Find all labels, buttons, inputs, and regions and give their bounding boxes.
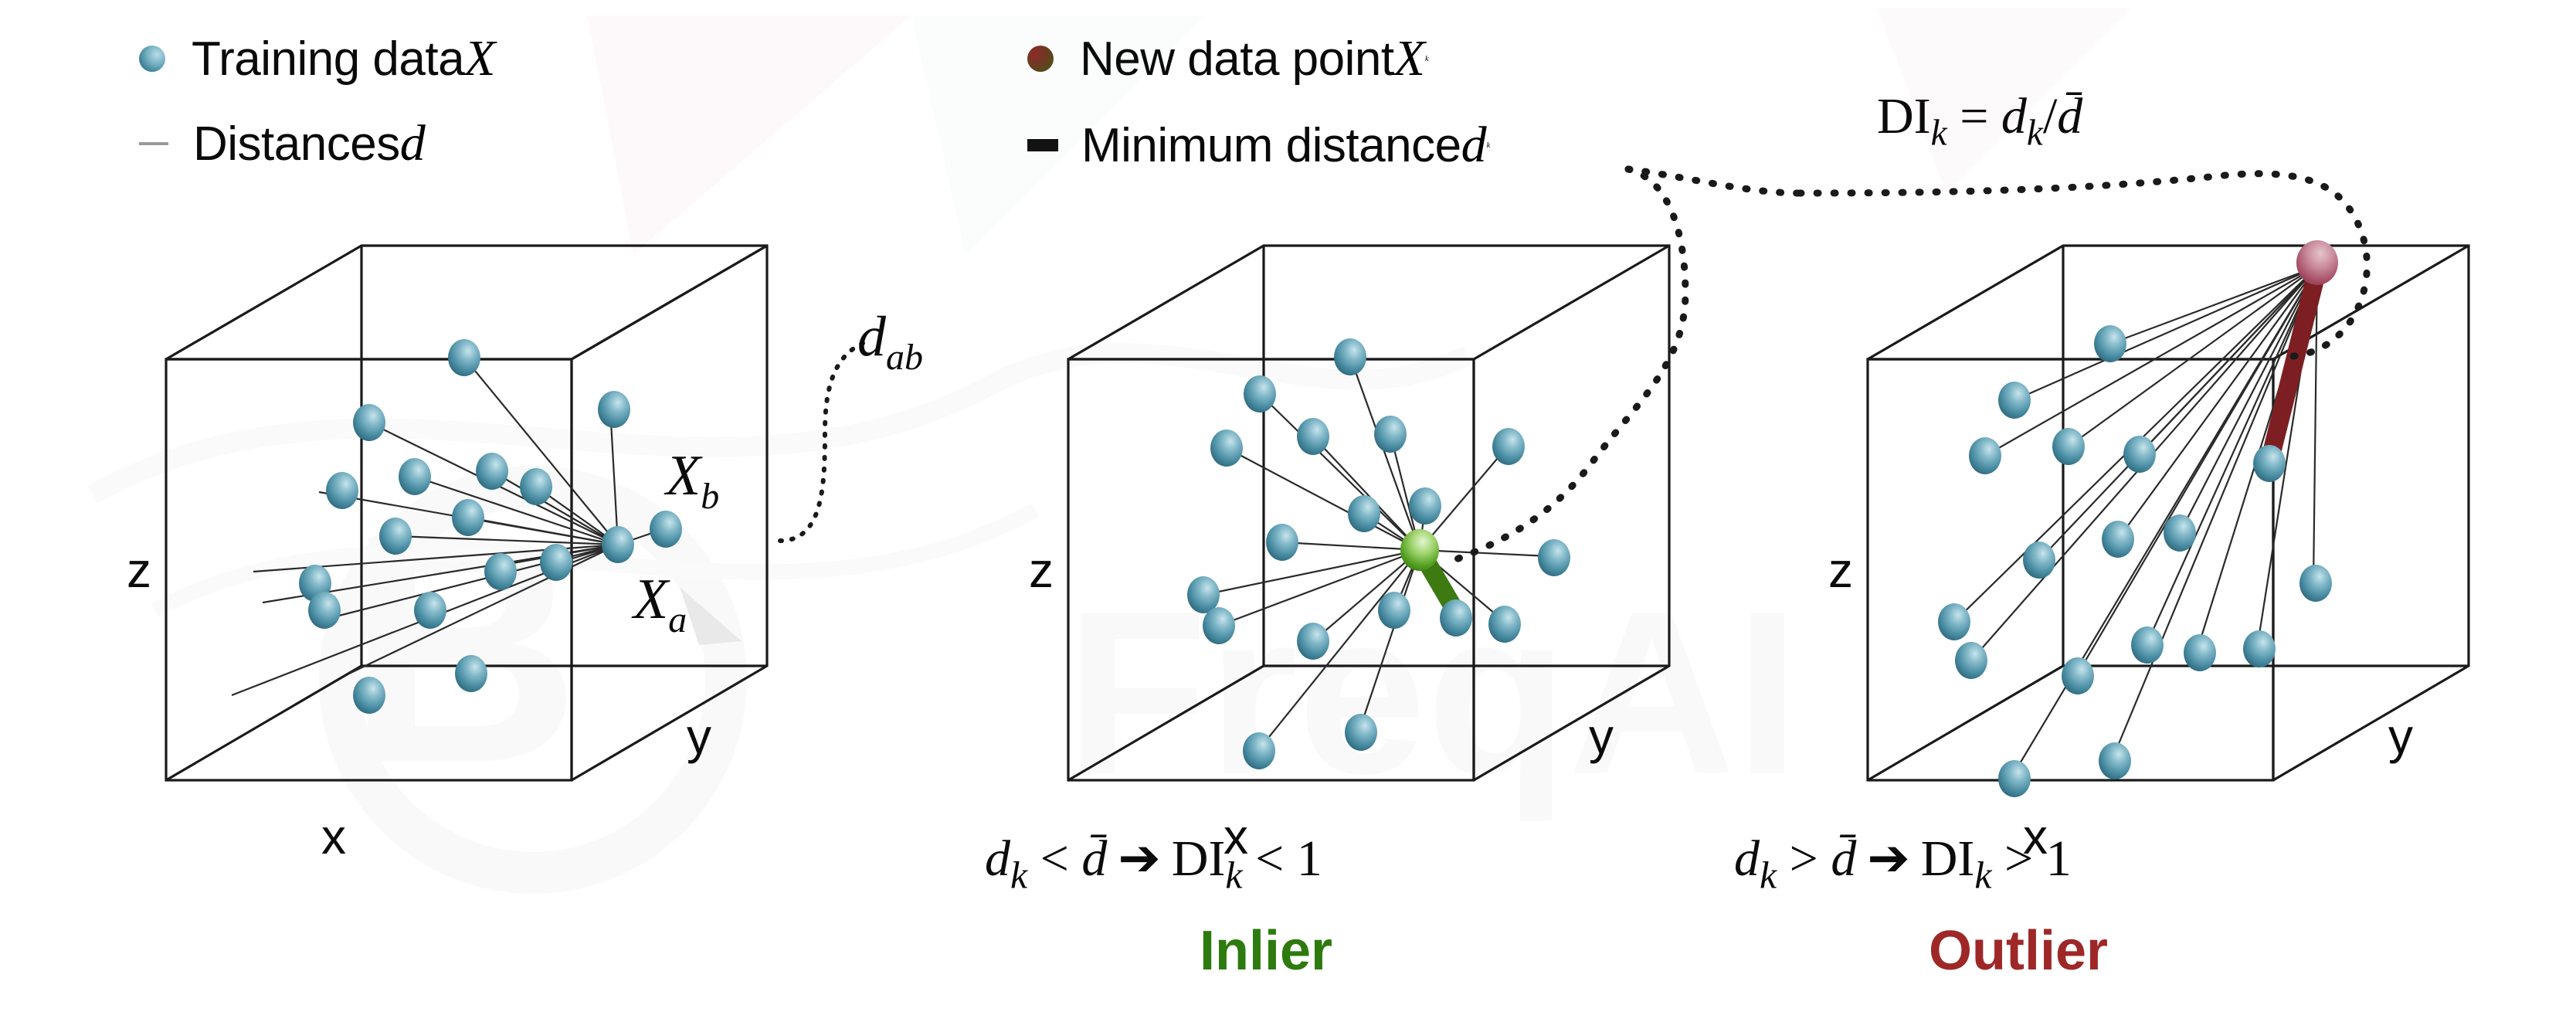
panel-outlier: z x y [1828,240,2469,864]
panel-training: z x y Xb Xa dab [127,246,923,864]
caption-inlier-di-sub: k [1225,854,1242,896]
corner-arrow-decor [680,587,742,645]
axis-label-z-outlier: z [1828,542,1853,598]
callout-leader-dab [780,340,871,541]
training-points-training [299,339,682,714]
nearest-neighbour-point-inlier [1440,599,1472,637]
caption-inlier-d: d [985,830,1010,887]
axis-label-y-training: y [687,708,711,764]
distance-lines-outlier [1954,267,2317,776]
caption-outlier: dk > d̄➔DIk > 1 [1734,820,2072,897]
axis-label-y-outlier: y [2388,708,2413,764]
caption-outlier-d-sub: k [1760,854,1777,896]
point-label-Xb: Xb [664,444,719,517]
verdict-outlier: Outlier [1929,919,2108,983]
callout-label-dab: dab [857,305,923,378]
caption-inlier-dbar: d̄ [1081,830,1107,887]
caption-outlier-op: > [1777,830,1831,887]
verdict-inlier: Inlier [1200,919,1332,983]
caption-inlier-d-sub: k [1010,854,1027,896]
connector-dotted-right [1628,169,1800,193]
arrow-right-icon: ➔ [1107,830,1171,887]
axis-label-x-training: x [321,809,346,864]
new-data-point-outlier [2296,240,2338,285]
axis-label-y-inlier: y [1589,708,1614,764]
distance-lines-inlier [1203,357,1549,749]
caption-outlier-op2: > [1992,830,2046,887]
caption-inlier-di: DI [1172,830,1226,887]
connector-dotted-to-inlier [1452,169,1685,561]
panel-inlier: z x y [1029,246,1669,864]
caption-outlier-value: 1 [2046,830,2072,887]
caption-outlier-di-sub: k [1974,854,1991,896]
arrow-right-icon: ➔ [1856,830,1920,887]
caption-outlier-di: DI [1921,830,1975,887]
caption-outlier-dbar: d̄ [1831,830,1856,887]
caption-outlier-d: d [1734,830,1760,887]
nearest-neighbour-point-outlier [2253,445,2286,482]
caption-inlier: dk < d̄➔DIk < 1 [985,820,1322,897]
axis-label-z-inlier: z [1029,542,1054,598]
point-Xa [602,526,634,563]
point-label-Xa: Xa [631,568,687,640]
caption-inlier-value: 1 [1297,830,1322,887]
cube-wireframe-outlier [1868,246,2469,780]
caption-inlier-op2: < [1243,830,1297,887]
axis-label-z-training: z [127,542,151,598]
new-data-point-inlier [1400,529,1439,571]
connector-dotted-to-outlier [1800,174,2367,357]
caption-inlier-op: < [1027,830,1081,887]
